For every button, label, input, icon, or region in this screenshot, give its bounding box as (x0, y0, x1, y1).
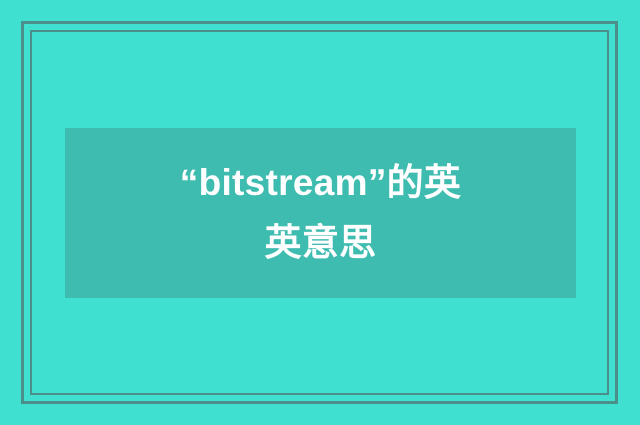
page-title: “bitstream”的英英意思 (168, 153, 473, 273)
image-card-canvas: “bitstream”的英英意思 (0, 0, 640, 425)
title-panel: “bitstream”的英英意思 (65, 128, 576, 298)
